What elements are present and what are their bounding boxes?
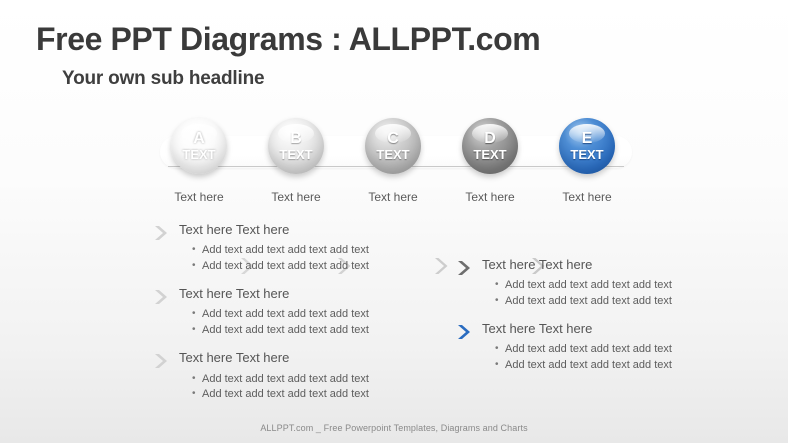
list-item: Add text add text add text add text: [495, 294, 745, 310]
list-item: Add text add text add text add text: [192, 307, 432, 323]
slide-canvas: Free PPT Diagrams : ALLPPT.com Your own …: [0, 0, 788, 443]
left-content-column: Text here Text here Add text add text ad…: [152, 222, 432, 414]
step-letter: D: [484, 131, 496, 147]
process-step-e[interactable]: E TEXT: [559, 118, 615, 174]
content-block: Text here Text here Add text add text ad…: [152, 350, 432, 403]
block-bullet-list: Add text add text add text add text Add …: [192, 243, 432, 275]
step-caption-e: Text here: [527, 190, 647, 204]
list-item: Add text add text add text add text: [192, 259, 432, 275]
step-sublabel: TEXT: [473, 148, 506, 161]
list-item: Add text add text add text add text: [495, 342, 745, 358]
step-letter: B: [290, 131, 302, 147]
step-sublabel: TEXT: [279, 148, 312, 161]
block-heading: Text here Text here: [179, 222, 432, 238]
chevron-right-icon: [432, 256, 448, 276]
right-content-column: Text here Text here Add text add text ad…: [455, 257, 745, 385]
chevron-right-icon: [455, 259, 473, 277]
block-heading: Text here Text here: [482, 321, 745, 337]
block-bullet-list: Add text add text add text add text Add …: [495, 278, 745, 310]
step-sublabel: TEXT: [182, 148, 215, 161]
block-heading: Text here Text here: [482, 257, 745, 273]
process-sphere-row: A TEXT B TEXT C TEXT D TEXT E: [0, 118, 788, 178]
list-item: Add text add text add text add text: [192, 372, 432, 388]
process-caption-row: Text here Text here Text here Text here …: [0, 190, 788, 206]
content-block: Text here Text here Add text add text ad…: [455, 257, 745, 310]
chevron-right-icon: [152, 224, 170, 242]
footer-credit: ALLPPT.com _ Free Powerpoint Templates, …: [0, 423, 788, 433]
page-subtitle: Your own sub headline: [62, 68, 264, 90]
page-title: Free PPT Diagrams : ALLPPT.com: [36, 21, 540, 58]
step-sublabel: TEXT: [376, 148, 409, 161]
list-item: Add text add text add text add text: [192, 323, 432, 339]
block-bullet-list: Add text add text add text add text Add …: [192, 372, 432, 404]
process-step-a[interactable]: A TEXT: [171, 118, 227, 174]
chevron-right-icon: [455, 323, 473, 341]
step-letter: C: [387, 131, 399, 147]
step-letter: A: [193, 131, 205, 147]
list-item: Add text add text add text add text: [192, 387, 432, 403]
block-heading: Text here Text here: [179, 286, 432, 302]
content-block: Text here Text here Add text add text ad…: [152, 286, 432, 339]
step-sublabel: TEXT: [570, 148, 603, 161]
block-bullet-list: Add text add text add text add text Add …: [192, 307, 432, 339]
list-item: Add text add text add text add text: [495, 278, 745, 294]
step-letter: E: [582, 131, 593, 147]
content-block: Text here Text here Add text add text ad…: [152, 222, 432, 275]
block-heading: Text here Text here: [179, 350, 432, 366]
list-item: Add text add text add text add text: [192, 243, 432, 259]
process-step-c[interactable]: C TEXT: [365, 118, 421, 174]
chevron-right-icon: [152, 288, 170, 306]
content-block-highlighted: Text here Text here Add text add text ad…: [455, 321, 745, 374]
block-bullet-list: Add text add text add text add text Add …: [495, 342, 745, 374]
process-step-d[interactable]: D TEXT: [462, 118, 518, 174]
chevron-right-icon: [152, 352, 170, 370]
process-step-b[interactable]: B TEXT: [268, 118, 324, 174]
list-item: Add text add text add text add text: [495, 358, 745, 374]
